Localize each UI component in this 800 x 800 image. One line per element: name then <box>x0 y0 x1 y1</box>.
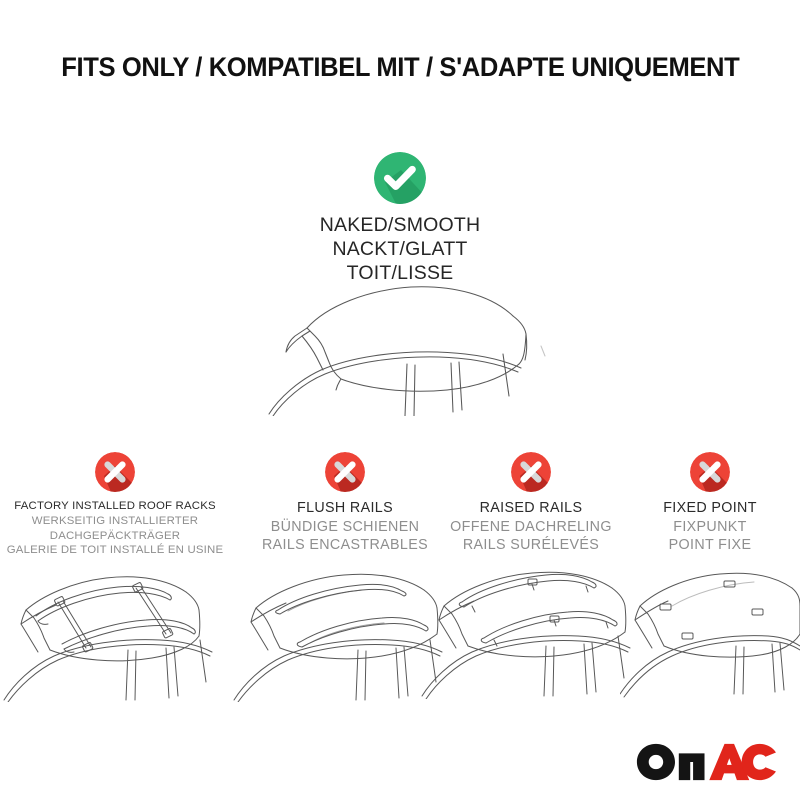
factory-roof-rack-figure <box>0 552 230 702</box>
cross-circle-icon <box>325 452 365 492</box>
label-group: FACTORY INSTALLED ROOF RACKS WERKSEITIG … <box>0 499 230 558</box>
omac-logo <box>635 742 778 782</box>
cross-circle-icon <box>690 452 730 492</box>
label-line-1: FIXED POINT <box>620 499 800 518</box>
fixed-point-figure <box>620 548 800 698</box>
not-compatible-item-raised-rails: RAISED RAILS OFFENE DACHRELING RAILS SUR… <box>420 452 642 555</box>
approved-section: NAKED/SMOOTH NACKT/GLATT TOIT/LISSE <box>0 152 800 285</box>
label-line-2: FIXPUNKT <box>620 518 800 537</box>
label-line-3: DACHGEPÄCKTRÄGER <box>0 529 230 544</box>
cross-circle-icon <box>95 452 135 492</box>
compatibility-infographic: FITS ONLY / KOMPATIBEL MIT / S'ADAPTE UN… <box>0 0 800 800</box>
raised-rails-figure <box>420 544 642 699</box>
label-line-1: RAISED RAILS <box>420 499 642 518</box>
not-compatible-item-fixed-point: FIXED POINT FIXPUNKT POINT FIXE <box>620 452 800 555</box>
page-title-text: FITS ONLY / KOMPATIBEL MIT / S'ADAPTE UN… <box>61 52 739 83</box>
label-line-2: OFFENE DACHRELING <box>420 518 642 537</box>
label-group: FIXED POINT FIXPUNKT POINT FIXE <box>620 499 800 555</box>
approved-label-line-1: NAKED/SMOOTH <box>0 214 800 238</box>
label-line-2: WERKSEITIG INSTALLIERTER <box>0 514 230 529</box>
label-line-1: FACTORY INSTALLED ROOF RACKS <box>0 499 230 514</box>
not-compatible-item-factory-roof-racks: FACTORY INSTALLED ROOF RACKS WERKSEITIG … <box>0 452 230 558</box>
approved-label-line-2: NACKT/GLATT <box>0 238 800 262</box>
approved-label-group: NAKED/SMOOTH NACKT/GLATT TOIT/LISSE <box>0 214 800 285</box>
cross-circle-icon <box>511 452 551 492</box>
check-circle-icon <box>374 152 426 204</box>
smooth-roof-figure <box>255 276 565 416</box>
page-title: FITS ONLY / KOMPATIBEL MIT / S'ADAPTE UN… <box>0 52 800 83</box>
